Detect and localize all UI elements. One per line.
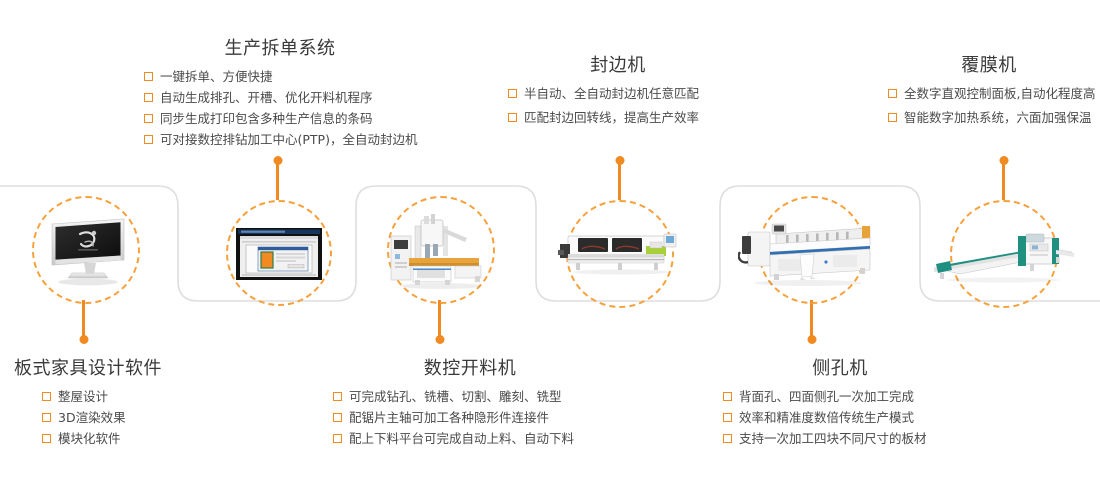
list-item-label: 可完成钻孔、铣槽、切割、雕刻、铣型: [349, 389, 562, 404]
checkbox-bullet-icon: [42, 392, 51, 401]
block-title: 侧孔机: [705, 358, 975, 380]
connector-dot: [273, 156, 282, 165]
imac-photo: [44, 216, 130, 286]
checkbox-bullet-icon: [333, 413, 342, 422]
list-item: 匹配封边回转线，提高生产效率: [508, 109, 736, 127]
checkbox-bullet-icon: [144, 93, 153, 102]
bullet-list: 一键拆单、方便快捷 自动生成排孔、开槽、优化开料机程序 同步生成打印包含多种生产…: [130, 68, 430, 150]
connector-dot: [435, 335, 444, 344]
list-item-label: 效率和精准度数倍传统生产模式: [739, 410, 914, 425]
checkbox-bullet-icon: [723, 392, 732, 401]
connector-edge-bander: [618, 160, 621, 200]
connector-cnc-router: [438, 300, 441, 340]
connector-dot: [79, 335, 88, 344]
list-item: 可完成钻孔、铣槽、切割、雕刻、铣型: [333, 388, 615, 406]
list-item: 自动生成排孔、开槽、优化开料机程序: [144, 89, 430, 107]
list-item: 支持一次加工四块不同尺寸的板材: [723, 430, 975, 448]
list-item: 可对接数控排钻加工中心(PTP)，全自动封边机: [144, 131, 430, 149]
list-item: 3D渲染效果: [42, 409, 244, 427]
checkbox-bullet-icon: [144, 72, 153, 81]
checkbox-bullet-icon: [144, 135, 153, 144]
list-item-label: 整屋设计: [58, 389, 108, 404]
connector-laminator: [1002, 160, 1005, 200]
list-item-label: 自动生成排孔、开槽、优化开料机程序: [160, 90, 373, 105]
checkbox-bullet-icon: [723, 434, 732, 443]
text-block-design-software: 板式家具设计软件 整屋设计 3D渲染效果 模块化软件: [14, 358, 244, 448]
checkbox-bullet-icon: [333, 434, 342, 443]
list-item-label: 配锯片主轴可加工各种隐形件连接件: [349, 410, 549, 425]
bullet-list: 背面孔、四面侧孔一次加工完成 效率和精准度数倍传统生产模式 支持一次加工四块不同…: [705, 388, 975, 448]
list-item: 配上下料平台可完成自动上料、自动下料: [333, 430, 615, 448]
list-item-label: 背面孔、四面侧孔一次加工完成: [739, 389, 914, 404]
list-item: 模块化软件: [42, 430, 244, 448]
list-item-label: 匹配封边回转线，提高生产效率: [524, 110, 699, 125]
list-item: 背面孔、四面侧孔一次加工完成: [723, 388, 975, 406]
list-item: 智能数字加热系统，六面加强保温: [888, 109, 1098, 127]
checkbox-bullet-icon: [508, 89, 517, 98]
connector-dot: [807, 335, 816, 344]
infographic-canvas: 板式家具设计软件 整屋设计 3D渲染效果 模块化软件 生产拆单系统 一键拆单、方…: [0, 0, 1100, 495]
checkbox-bullet-icon: [508, 113, 517, 122]
text-block-cnc-cutting-machine: 数控开料机 可完成钻孔、铣槽、切割、雕刻、铣型 配锯片主轴可加工各种隐形件连接件…: [325, 358, 615, 448]
list-item-label: 一键拆单、方便快捷: [160, 69, 273, 84]
node-imac[interactable]: [32, 196, 140, 304]
connector-dot: [615, 156, 624, 165]
text-block-production-splitting-system: 生产拆单系统 一键拆单、方便快捷 自动生成排孔、开槽、优化开料机程序 同步生成打…: [130, 38, 430, 149]
list-item: 整屋设计: [42, 388, 244, 406]
list-item: 效率和精准度数倍传统生产模式: [723, 409, 975, 427]
text-block-side-hole-machine: 侧孔机 背面孔、四面侧孔一次加工完成 效率和精准度数倍传统生产模式 支持一次加工…: [705, 358, 975, 448]
list-item: 同步生成打印包含多种生产信息的条码: [144, 110, 430, 128]
checkbox-bullet-icon: [333, 392, 342, 401]
checkbox-bullet-icon: [42, 434, 51, 443]
checkbox-bullet-icon: [42, 413, 51, 422]
list-item-label: 3D渲染效果: [58, 410, 126, 425]
node-side-driller[interactable]: [758, 196, 866, 304]
block-title: 板式家具设计软件: [14, 358, 244, 380]
laminator-photo: [930, 230, 1076, 284]
bullet-list: 可完成钻孔、铣槽、切割、雕刻、铣型 配锯片主轴可加工各种隐形件连接件 配上下料平…: [325, 388, 615, 448]
list-item: 配锯片主轴可加工各种隐形件连接件: [333, 409, 615, 427]
node-software-screen[interactable]: [226, 200, 332, 306]
bullet-list: 半自动、全自动封边机任意匹配 匹配封边回转线，提高生产效率: [500, 85, 736, 127]
list-item-label: 全数字直观控制面板,自动化程度高: [904, 86, 1095, 101]
list-item-label: 智能数字加热系统，六面加强保温: [904, 110, 1092, 125]
bullet-list: 全数字直观控制面板,自动化程度高 智能数字加热系统，六面加强保温: [880, 85, 1098, 127]
block-title: 封边机: [500, 55, 736, 77]
list-item-label: 半自动、全自动封边机任意匹配: [524, 86, 699, 101]
cnc-router-photo: [385, 210, 497, 292]
edge-bander-photo: [558, 228, 684, 276]
checkbox-bullet-icon: [723, 413, 732, 422]
connector-dot: [999, 156, 1008, 165]
list-item-label: 支持一次加工四块不同尺寸的板材: [739, 431, 927, 446]
connector-imac: [82, 300, 85, 340]
node-laminator[interactable]: [950, 200, 1058, 308]
side-driller-photo: [738, 212, 878, 288]
bullet-list: 整屋设计 3D渲染效果 模块化软件: [14, 388, 244, 448]
block-title: 数控开料机: [325, 358, 615, 380]
list-item-label: 配上下料平台可完成自动上料、自动下料: [349, 431, 574, 446]
block-title: 覆膜机: [880, 55, 1098, 77]
text-block-laminating-machine: 覆膜机 全数字直观控制面板,自动化程度高 智能数字加热系统，六面加强保温: [880, 55, 1098, 127]
text-block-edge-banding-machine: 封边机 半自动、全自动封边机任意匹配 匹配封边回转线，提高生产效率: [500, 55, 736, 127]
connector-side-driller: [810, 300, 813, 340]
list-item: 一键拆单、方便快捷: [144, 68, 430, 86]
checkbox-bullet-icon: [888, 113, 897, 122]
list-item: 全数字直观控制面板,自动化程度高: [888, 85, 1098, 103]
connector-software-screen: [276, 160, 279, 200]
checkbox-bullet-icon: [888, 89, 897, 98]
block-title: 生产拆单系统: [130, 38, 430, 60]
checkbox-bullet-icon: [144, 114, 153, 123]
list-item: 半自动、全自动封边机任意匹配: [508, 85, 736, 103]
list-item-label: 同步生成打印包含多种生产信息的条码: [160, 111, 373, 126]
software-screen-photo: [236, 228, 322, 280]
node-edge-bander[interactable]: [566, 200, 674, 308]
list-item-label: 可对接数控排钻加工中心(PTP)，全自动封边机: [160, 132, 417, 147]
node-cnc-router[interactable]: [387, 196, 495, 304]
list-item-label: 模块化软件: [58, 431, 121, 446]
